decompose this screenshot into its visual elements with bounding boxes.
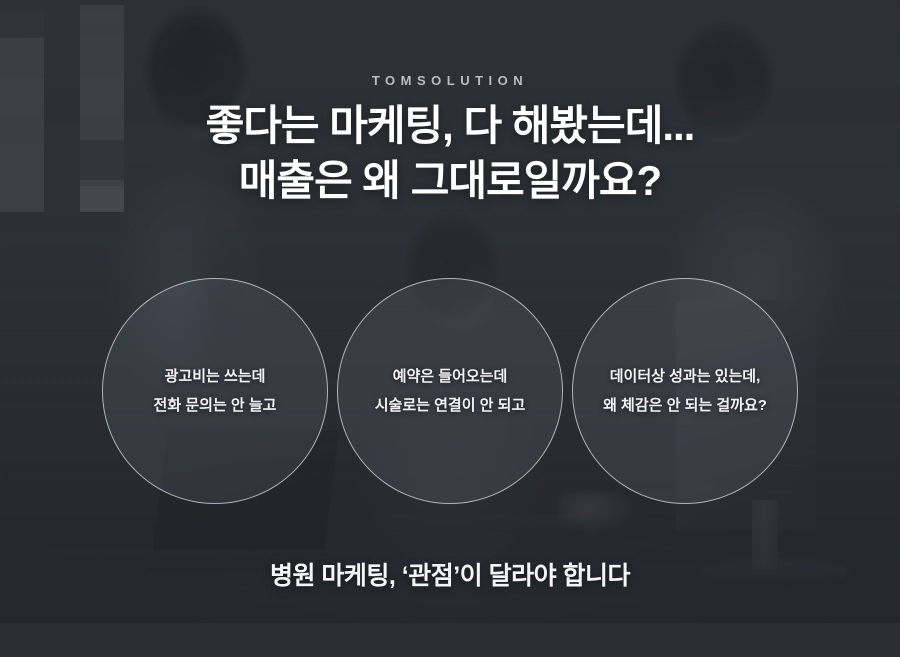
headline-line-2: 매출은 왜 그대로일까요? <box>0 153 900 208</box>
pain-point-circle-group: 광고비는 쓰는데 전화 문의는 안 늘고 예약은 들어오는데 시술로는 연결이 … <box>0 278 900 504</box>
brand-eyebrow: TOMSOLUTION <box>0 73 900 88</box>
bottom-bar <box>0 623 900 657</box>
circle-3-line-2: 왜 체감은 안 되는 걸까요? <box>603 391 767 420</box>
hero-banner: TOMSOLUTION 좋다는 마케팅, 다 해봤는데... 매출은 왜 그대로… <box>0 0 900 657</box>
circle-1-line-1: 광고비는 쓰는데 <box>165 362 266 391</box>
pain-point-circle-reservation[interactable]: 예약은 들어오는데 시술로는 연결이 안 되고 <box>337 278 563 504</box>
circle-2-line-1: 예약은 들어오는데 <box>393 362 508 391</box>
circle-2-line-2: 시술로는 연결이 안 되고 <box>375 391 526 420</box>
page-title: 좋다는 마케팅, 다 해봤는데... 매출은 왜 그대로일까요? <box>0 98 900 209</box>
closing-tagline: 병원 마케팅, ‘관점’이 달라야 합니다 <box>0 556 900 592</box>
hero-content: TOMSOLUTION 좋다는 마케팅, 다 해봤는데... 매출은 왜 그대로… <box>0 0 900 657</box>
pain-point-circle-ad-spend[interactable]: 광고비는 쓰는데 전화 문의는 안 늘고 <box>102 278 328 504</box>
circle-1-line-2: 전화 문의는 안 늘고 <box>154 391 277 420</box>
pain-point-circle-data-performance[interactable]: 데이터상 성과는 있는데, 왜 체감은 안 되는 걸까요? <box>572 278 798 504</box>
headline-line-1: 좋다는 마케팅, 다 해봤는데... <box>0 98 900 153</box>
circle-3-line-1: 데이터상 성과는 있는데, <box>610 362 761 391</box>
